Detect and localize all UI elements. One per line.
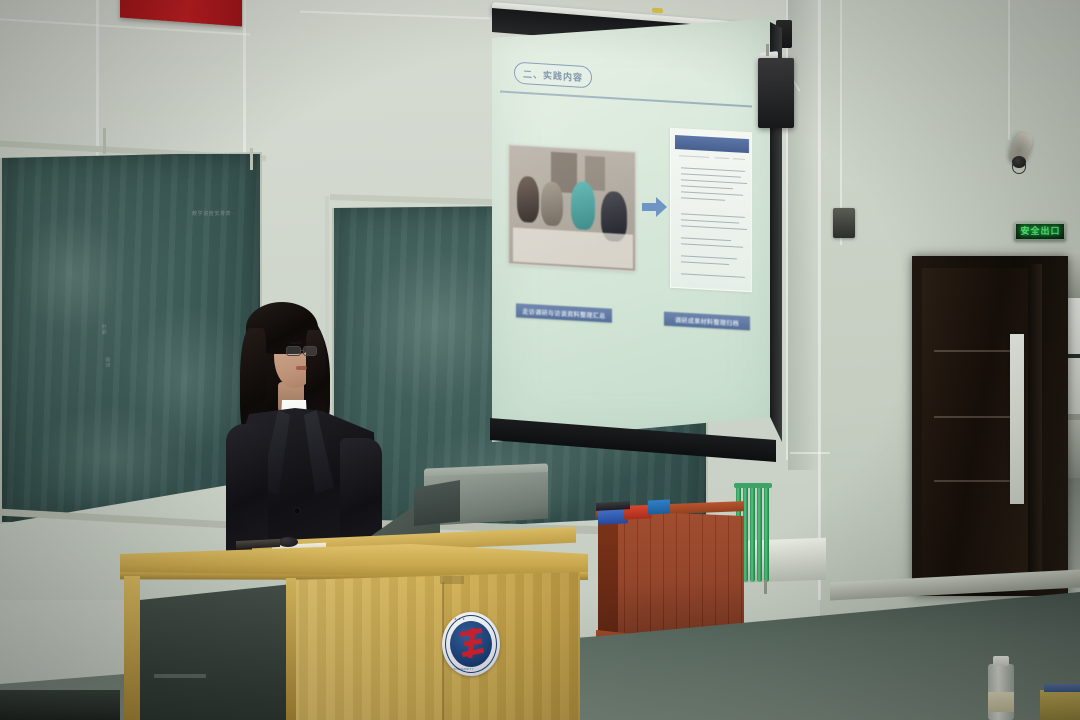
projector-housing: [758, 58, 794, 128]
foreground-shadow: [0, 690, 120, 720]
podium-shelf-item: [154, 674, 206, 678]
exit-char: 全: [1030, 227, 1039, 236]
projection-screen: 二、实践内容: [492, 18, 776, 442]
bottle-label: [988, 692, 1014, 712]
slide-caption-left: 走访调研与访谈资料整理汇总: [516, 303, 612, 322]
podium-handle-recess: [440, 576, 464, 584]
exit-char: 口: [1051, 227, 1060, 236]
presenter-brow: [306, 342, 315, 344]
podium-leg-center: [286, 578, 296, 720]
wall-junction-box: [833, 208, 855, 238]
speaker-shadow: [1004, 128, 1034, 172]
monitor-screen: [414, 480, 460, 526]
bottle-cap: [993, 656, 1009, 666]
podium-body[interactable]: [290, 572, 580, 720]
slide-document: [670, 128, 752, 293]
chalkboard-bracket: [250, 148, 253, 170]
slide-title: 二、实践内容: [523, 67, 583, 84]
radiator-leg: [764, 580, 767, 594]
document-title-bar: [675, 135, 749, 153]
podium-interior: [140, 584, 292, 720]
projector-mount: [766, 44, 769, 56]
podium-leg-left: [124, 576, 140, 720]
slide-caption-right: 调研成果材料整理归档: [664, 312, 750, 331]
caption-right-text: 调研成果材料整理归档: [675, 315, 739, 328]
chalkboard-bracket: [103, 128, 106, 154]
presenter-mouth: [296, 366, 307, 370]
arrow-right-icon: [642, 196, 668, 218]
computer-mouse: [278, 537, 298, 547]
door-jamb: [1028, 264, 1042, 588]
slide-title-badge: 二、实践内容: [514, 62, 592, 89]
caption-left-text: 走访调研与访谈资料整理汇总: [522, 306, 605, 320]
desk-item-cyan: [648, 499, 670, 514]
slide-divider: [500, 91, 752, 108]
radiator-cap: [734, 483, 772, 488]
foreground-desk: [1040, 690, 1080, 720]
door-leaf[interactable]: [922, 268, 1032, 590]
glasses-lens-right: [303, 346, 317, 356]
emergency-exit-sign: 安 全 出 口: [1014, 222, 1066, 241]
wall-seam: [790, 452, 830, 454]
presenter: [222, 300, 402, 560]
classroom-photo: 教学进度安排表 · 实验 报告 二、实践内容: [0, 0, 1080, 720]
glasses-lens-left: [286, 346, 301, 356]
housing-label: [652, 8, 663, 14]
university-crest: ★ ★ ★ UNIVERSITY: [442, 612, 500, 676]
slide-photo: [508, 144, 636, 272]
glasses-bridge: [301, 350, 304, 351]
wall-conduit: [1008, 0, 1010, 140]
exit-char: 安: [1020, 227, 1029, 236]
jacket-button: [294, 508, 300, 514]
foreground-book: [1044, 684, 1080, 692]
exit-char: 出: [1041, 227, 1050, 236]
door-glass-panel: [1010, 334, 1024, 504]
